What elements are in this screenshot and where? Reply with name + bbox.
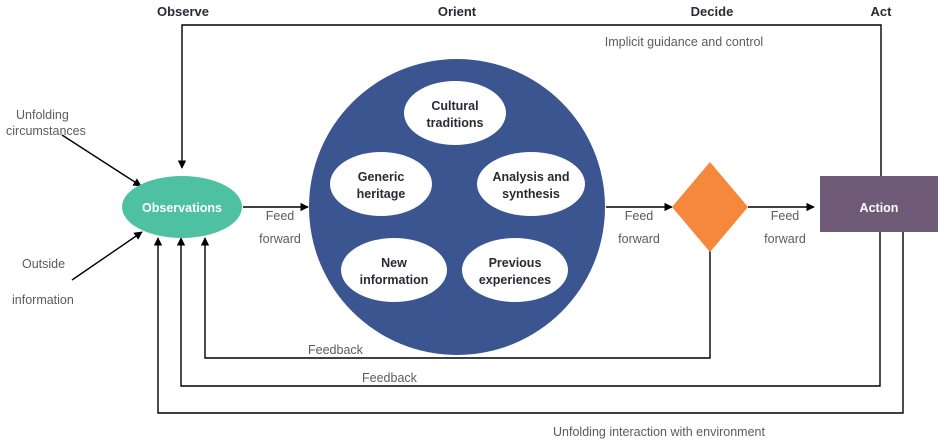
edge-label-feed-forward-2-line1: Feed <box>625 209 654 223</box>
ooda-loop-diagram: Observe Orient Decide Act Implicit guida… <box>0 0 950 443</box>
external-input-label-outside-information-line1: Outside <box>22 257 65 271</box>
edge-label-feed-forward-3-line1: Feed <box>771 209 800 223</box>
node-decision-diamond[interactable] <box>672 162 748 252</box>
node-label-new-information-line1: New <box>381 256 407 270</box>
edge-label-feed-forward-2-line2: forward <box>618 232 660 246</box>
edge-unfolding-circumstances <box>62 135 141 186</box>
edge-outside-information <box>72 232 142 280</box>
node-label-previous-experiences-line1: Previous <box>489 256 542 270</box>
node-label-observations: Observations <box>142 201 222 215</box>
edge-label-unfolding-interaction: Unfolding interaction with environment <box>553 425 765 439</box>
external-input-label-outside-information-line2: information <box>12 293 74 307</box>
node-previous-experiences[interactable] <box>462 238 568 302</box>
node-label-analysis-and-synthesis-line2: synthesis <box>502 187 560 201</box>
node-label-cultural-traditions-line2: traditions <box>427 116 484 130</box>
node-label-new-information-line2: information <box>360 273 429 287</box>
edge-label-feedback-2: Feedback <box>362 371 418 385</box>
node-generic-heritage[interactable] <box>330 152 432 216</box>
phase-label-observe: Observe <box>157 4 209 19</box>
external-input-label-unfolding-circumstances-line2: circumstances <box>6 124 86 138</box>
node-label-generic-heritage-line1: Generic <box>358 170 405 184</box>
edge-label-feed-forward-1-line2: forward <box>259 232 301 246</box>
external-input-label-unfolding-circumstances-line1: Unfolding <box>16 108 69 122</box>
phase-label-act: Act <box>871 4 893 19</box>
node-label-cultural-traditions-line1: Cultural <box>431 99 478 113</box>
ooda-diagram-canvas: Observe Orient Decide Act Implicit guida… <box>0 0 950 443</box>
edge-label-feedback-1: Feedback <box>308 343 364 357</box>
node-label-generic-heritage-line2: heritage <box>357 187 406 201</box>
node-label-action: Action <box>860 201 899 215</box>
node-new-information[interactable] <box>341 238 447 302</box>
edge-label-feed-forward-3-line2: forward <box>764 232 806 246</box>
node-label-analysis-and-synthesis-line1: Analysis and <box>492 170 569 184</box>
phase-label-decide: Decide <box>691 4 734 19</box>
node-analysis-and-synthesis[interactable] <box>477 152 585 216</box>
node-label-previous-experiences-line2: experiences <box>479 273 551 287</box>
phase-label-orient: Orient <box>438 4 477 19</box>
edge-label-implicit-guidance: Implicit guidance and control <box>605 35 763 49</box>
edge-label-feed-forward-1-line1: Feed <box>266 209 295 223</box>
node-cultural-traditions[interactable] <box>404 81 506 145</box>
